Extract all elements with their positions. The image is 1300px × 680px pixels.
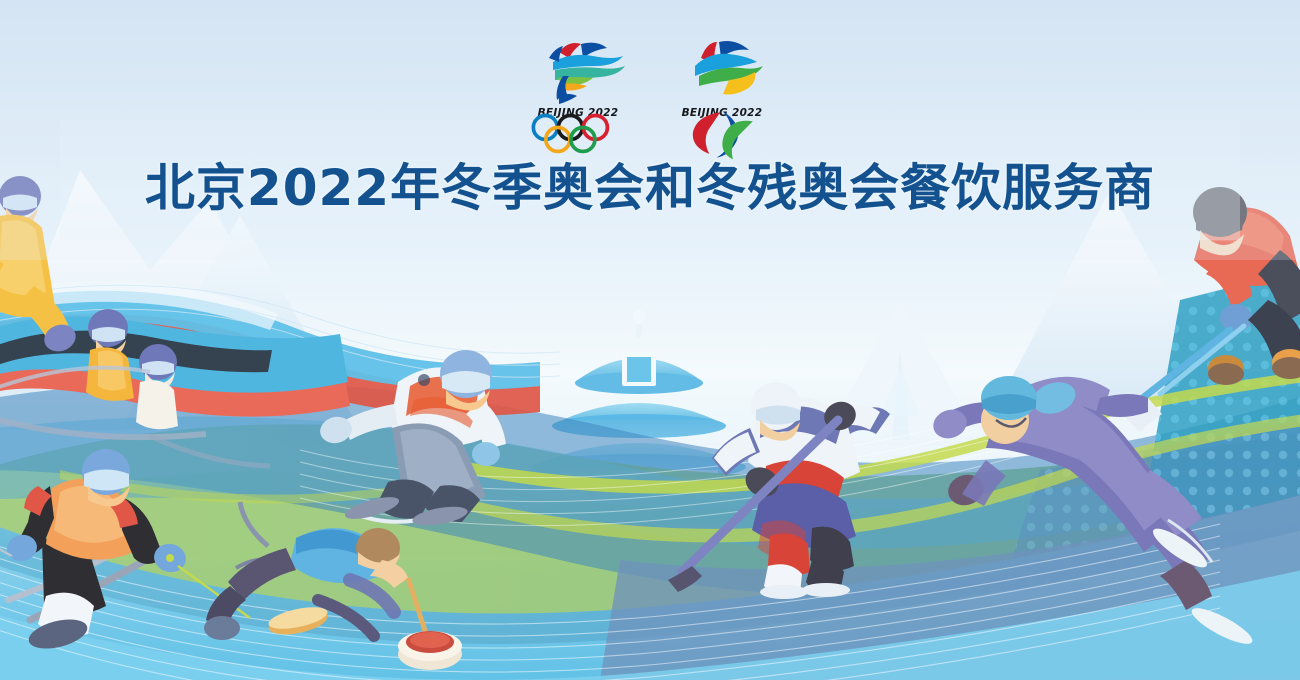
banner-header: BEIJING 2022 (0, 0, 1300, 213)
logo-row: BEIJING 2022 (0, 0, 1300, 147)
page-title: 北京2022年冬季奥会和冬残奥会餐饮服务商 (0, 163, 1300, 213)
olympic-rings-icon (529, 121, 627, 147)
beijing-2022-paralympic-logo: BEIJING 2022 (673, 32, 771, 147)
beijing-2022-olympic-logo: BEIJING 2022 (529, 32, 627, 147)
paralympic-emblem-icon (673, 32, 771, 106)
olympic-emblem-icon (529, 32, 627, 106)
olympic-banner: BEIJING 2022 (0, 0, 1300, 680)
agitos-icon (673, 121, 771, 147)
